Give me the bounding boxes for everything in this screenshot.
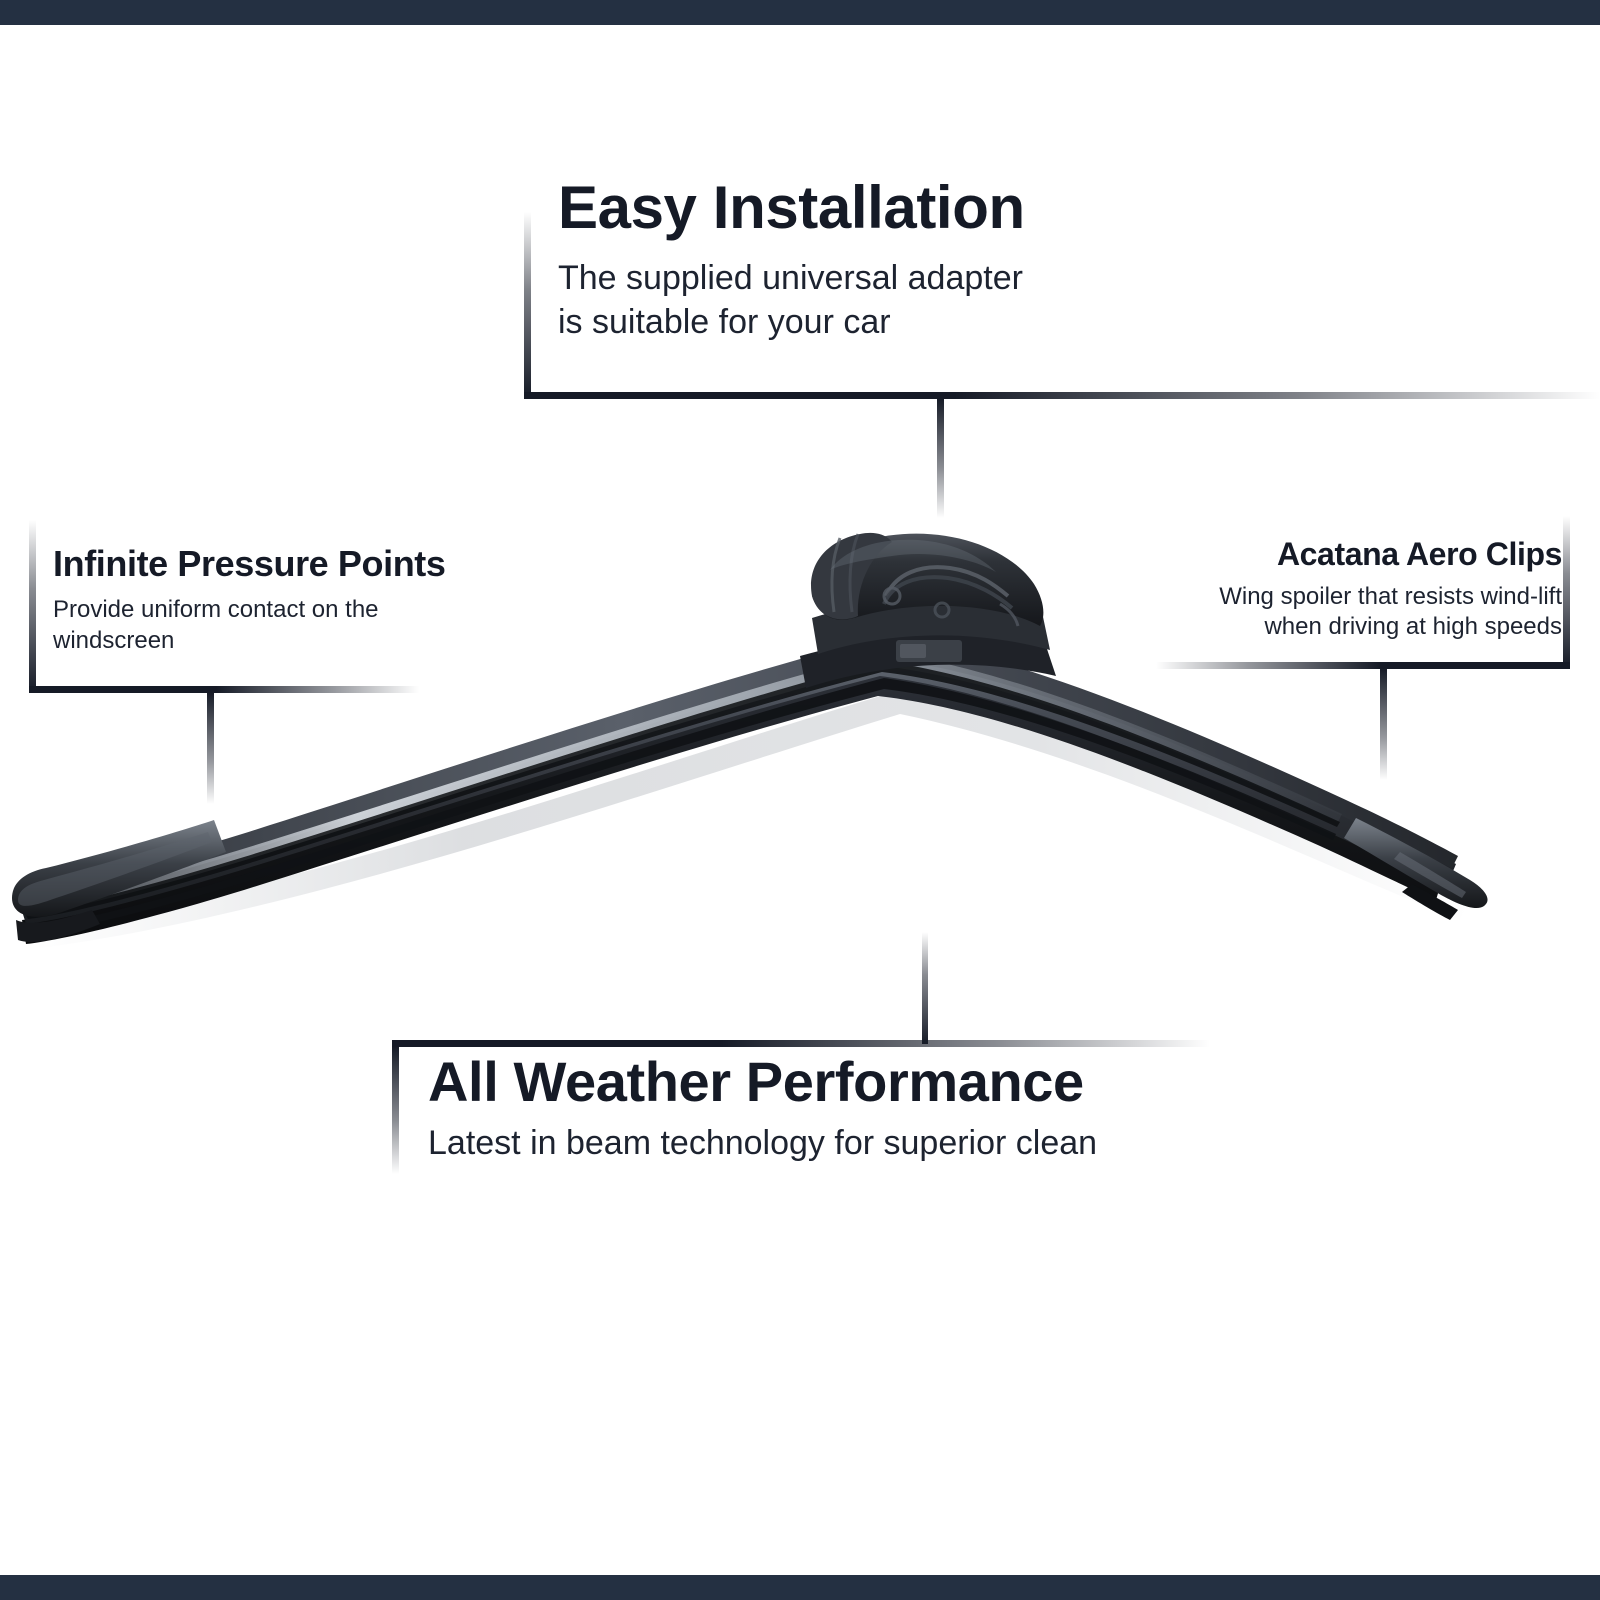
callout-clips-body: Wing spoiler that resists wind-lift when… (1070, 582, 1562, 643)
callout-easy-installation: Easy Installation The supplied universal… (558, 176, 1158, 344)
callout-rule-clips-vertical (1563, 516, 1570, 668)
top-accent-bar (0, 0, 1600, 25)
callout-leader-pressure (207, 692, 214, 804)
infographic-canvas: Easy Installation The supplied universal… (0, 0, 1600, 1600)
callout-weather-title: All Weather Performance (428, 1053, 1328, 1112)
callout-leader-clips (1380, 668, 1387, 780)
callout-pressure-body-line2: windscreen (53, 627, 174, 654)
callout-leader-install (937, 398, 944, 518)
callout-rule-pressure-horizontal (29, 686, 419, 693)
callout-infinite-pressure-points: Infinite Pressure Points Provide uniform… (53, 545, 523, 656)
callout-rule-weather-vertical (392, 1046, 399, 1174)
callout-rule-weather-horizontal (392, 1040, 1210, 1047)
callout-install-body-line2: is suitable for your car (558, 303, 891, 341)
callout-clips-title: Acatana Aero Clips (1070, 538, 1562, 572)
callout-rule-pressure-vertical (29, 520, 36, 692)
callout-clips-body-line2: when driving at high speeds (1264, 613, 1562, 640)
callout-acatana-aero-clips: Acatana Aero Clips Wing spoiler that res… (1070, 538, 1562, 643)
callout-install-title: Easy Installation (558, 176, 1158, 239)
callout-pressure-body: Provide uniform contact on the windscree… (53, 595, 523, 656)
callout-rule-install-vertical (524, 212, 531, 398)
callout-rule-install-horizontal (524, 392, 1600, 399)
callout-clips-body-line1: Wing spoiler that resists wind-lift (1219, 583, 1562, 610)
wiper-adapter-connector (800, 533, 1056, 688)
callout-all-weather-performance: All Weather Performance Latest in beam t… (428, 1053, 1328, 1165)
callout-install-body: The supplied universal adapter is suitab… (558, 257, 1158, 344)
callout-weather-body: Latest in beam technology for superior c… (428, 1122, 1328, 1166)
bottom-accent-bar (0, 1575, 1600, 1600)
callout-install-body-line1: The supplied universal adapter (558, 259, 1023, 297)
callout-pressure-body-line1: Provide uniform contact on the (53, 596, 379, 623)
callout-pressure-title: Infinite Pressure Points (53, 545, 523, 583)
callout-leader-weather (922, 932, 928, 1044)
callout-rule-clips-horizontal (1156, 662, 1570, 669)
